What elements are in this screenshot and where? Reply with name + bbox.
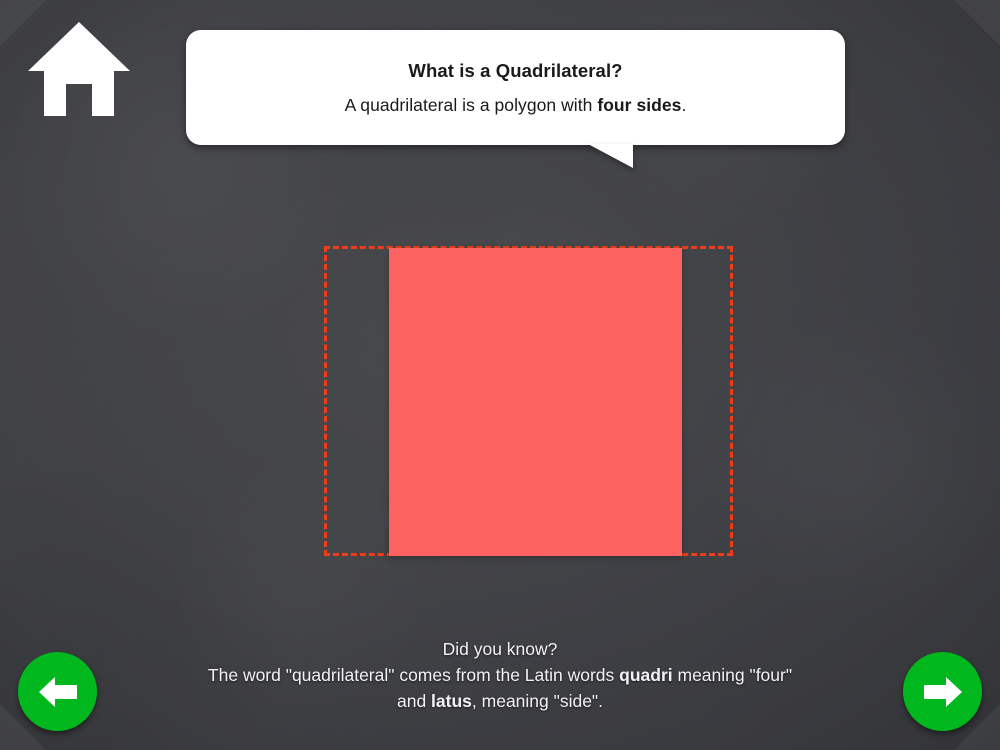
bubble-body-suffix: . — [681, 95, 686, 115]
lesson-screen: What is a Quadrilateral? A quadrilateral… — [0, 0, 1000, 750]
caption-line-3-b: , meaning "side". — [472, 691, 603, 711]
bubble-body: A quadrilateral is a polygon with four s… — [345, 95, 687, 116]
home-icon — [26, 16, 132, 120]
caption-line-2-a: The word "quadrilateral" comes from the … — [208, 665, 619, 685]
caption-line-1: Did you know? — [0, 636, 1000, 662]
caption-line-2-b: meaning "four" — [673, 665, 792, 685]
did-you-know-caption: Did you know? The word "quadrilateral" c… — [0, 636, 1000, 714]
quadrilateral-shape[interactable] — [389, 248, 682, 556]
speech-bubble-tail — [588, 144, 633, 168]
home-button[interactable] — [26, 16, 132, 120]
bubble-body-emphasis: four sides — [597, 95, 681, 115]
arrow-left-icon — [36, 673, 80, 711]
bubble-body-prefix: A quadrilateral is a polygon with — [345, 95, 598, 115]
caption-latin-quadri: quadri — [619, 665, 672, 685]
next-button[interactable] — [903, 652, 982, 731]
caption-line-3-a: and — [397, 691, 431, 711]
corner-highlight-top-right — [954, 0, 1000, 46]
caption-line-3: and latus, meaning "side". — [0, 688, 1000, 714]
caption-line-2: The word "quadrilateral" comes from the … — [0, 662, 1000, 688]
caption-latin-latus: latus — [431, 691, 472, 711]
bubble-title: What is a Quadrilateral? — [408, 60, 622, 82]
arrow-right-icon — [921, 673, 965, 711]
previous-button[interactable] — [18, 652, 97, 731]
info-speech-bubble: What is a Quadrilateral? A quadrilateral… — [186, 30, 845, 145]
